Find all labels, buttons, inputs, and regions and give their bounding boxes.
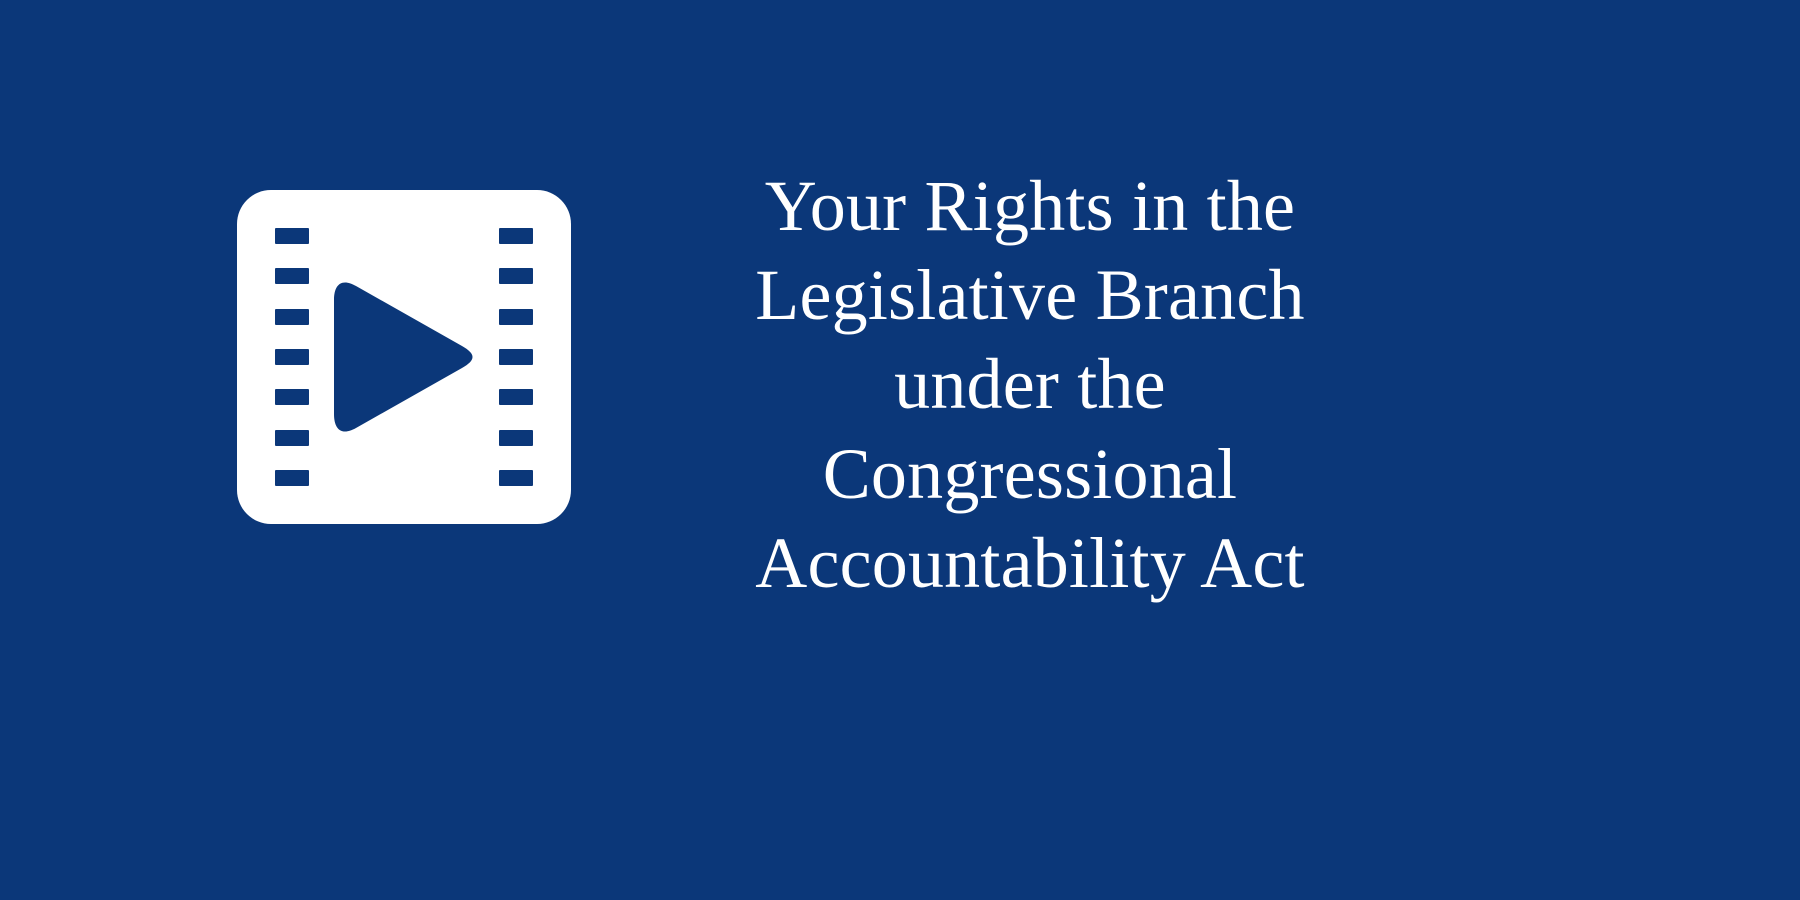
play-icon[interactable] [334, 278, 474, 436]
film-perforation [499, 349, 533, 365]
film-perforation [275, 309, 309, 325]
film-perforation [499, 430, 533, 446]
page-title: Your Rights in the Legislative Branch un… [755, 162, 1304, 608]
film-perforation [275, 268, 309, 284]
film-perforation [275, 430, 309, 446]
video-title-card: Your Rights in the Legislative Branch un… [0, 0, 1800, 900]
film-perforation [499, 268, 533, 284]
film-perforation [275, 470, 309, 486]
video-thumbnail-icon[interactable] [237, 190, 571, 524]
film-perforations-right [499, 190, 533, 524]
film-perforation [499, 470, 533, 486]
film-perforations-left [275, 190, 309, 524]
headline-container: Your Rights in the Legislative Branch un… [700, 150, 1360, 620]
film-strip-frame [237, 190, 571, 524]
film-perforation [499, 228, 533, 244]
film-perforation [275, 349, 309, 365]
film-perforation [499, 309, 533, 325]
film-perforation [275, 389, 309, 405]
film-perforation [275, 228, 309, 244]
film-perforation [499, 389, 533, 405]
